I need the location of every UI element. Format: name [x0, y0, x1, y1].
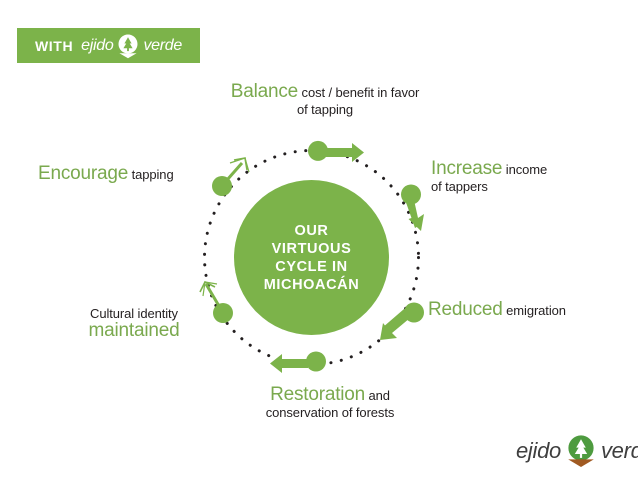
cycle-arrow-left-upper [227, 158, 249, 180]
label-balance: Balance cost / benefit in favor of tappi… [205, 83, 445, 118]
cycle-node-left-lower [213, 303, 233, 323]
label-reduced-highlight: Reduced [428, 299, 503, 320]
center-line-4: MICHOACÁN [264, 276, 360, 294]
cycle-arrow-top [326, 143, 364, 162]
center-circle: OUR VIRTUOUS CYCLE IN MICHOACÁN [234, 180, 389, 335]
label-increase: Increase income of tappers [431, 160, 601, 195]
footer-brand-word-ejido: ejido [516, 438, 561, 464]
center-line-3: CYCLE IN [275, 258, 347, 276]
label-restoration-rest1: and [365, 388, 390, 403]
label-encourage: Encourage tapping [38, 165, 218, 183]
label-restoration-rest2: conservation of forests [266, 405, 395, 420]
label-increase-rest2: of tappers [431, 179, 488, 194]
label-reduced: Reduced emigration [428, 301, 628, 319]
label-balance-highlight: Balance [231, 81, 298, 102]
tree-logo-icon [565, 434, 597, 468]
virtuous-cycle-diagram: OUR VIRTUOUS CYCLE IN MICHOACÁN Balance … [0, 0, 638, 479]
center-line-2: VIRTUOUS [272, 240, 352, 258]
cycle-arrow-bottom [270, 354, 308, 373]
label-increase-rest1: income [502, 162, 547, 177]
label-restoration-highlight: Restoration [270, 384, 365, 405]
label-cultural-highlight: maintained [89, 320, 180, 341]
label-balance-rest1: cost / benefit in favor [298, 85, 419, 100]
ejido-verde-logo-footer: ejido verde [516, 434, 638, 468]
label-balance-rest2: of tapping [297, 102, 353, 117]
label-encourage-rest1: tapping [128, 167, 173, 182]
label-encourage-highlight: Encourage [38, 163, 128, 184]
cycle-node-top [308, 141, 328, 161]
label-increase-highlight: Increase [431, 158, 502, 179]
label-restoration: Restoration and conservation of forests [215, 386, 445, 421]
label-reduced-rest1: emigration [503, 303, 566, 318]
label-cultural: Cultural identity maintained [60, 305, 208, 340]
label-cultural-rest1: Cultural identity [90, 306, 178, 321]
center-line-1: OUR [294, 222, 328, 240]
cycle-arrow-right-lower [380, 309, 410, 340]
cycle-node-bottom [306, 352, 326, 372]
footer-brand-word-verde: verde [601, 438, 638, 464]
